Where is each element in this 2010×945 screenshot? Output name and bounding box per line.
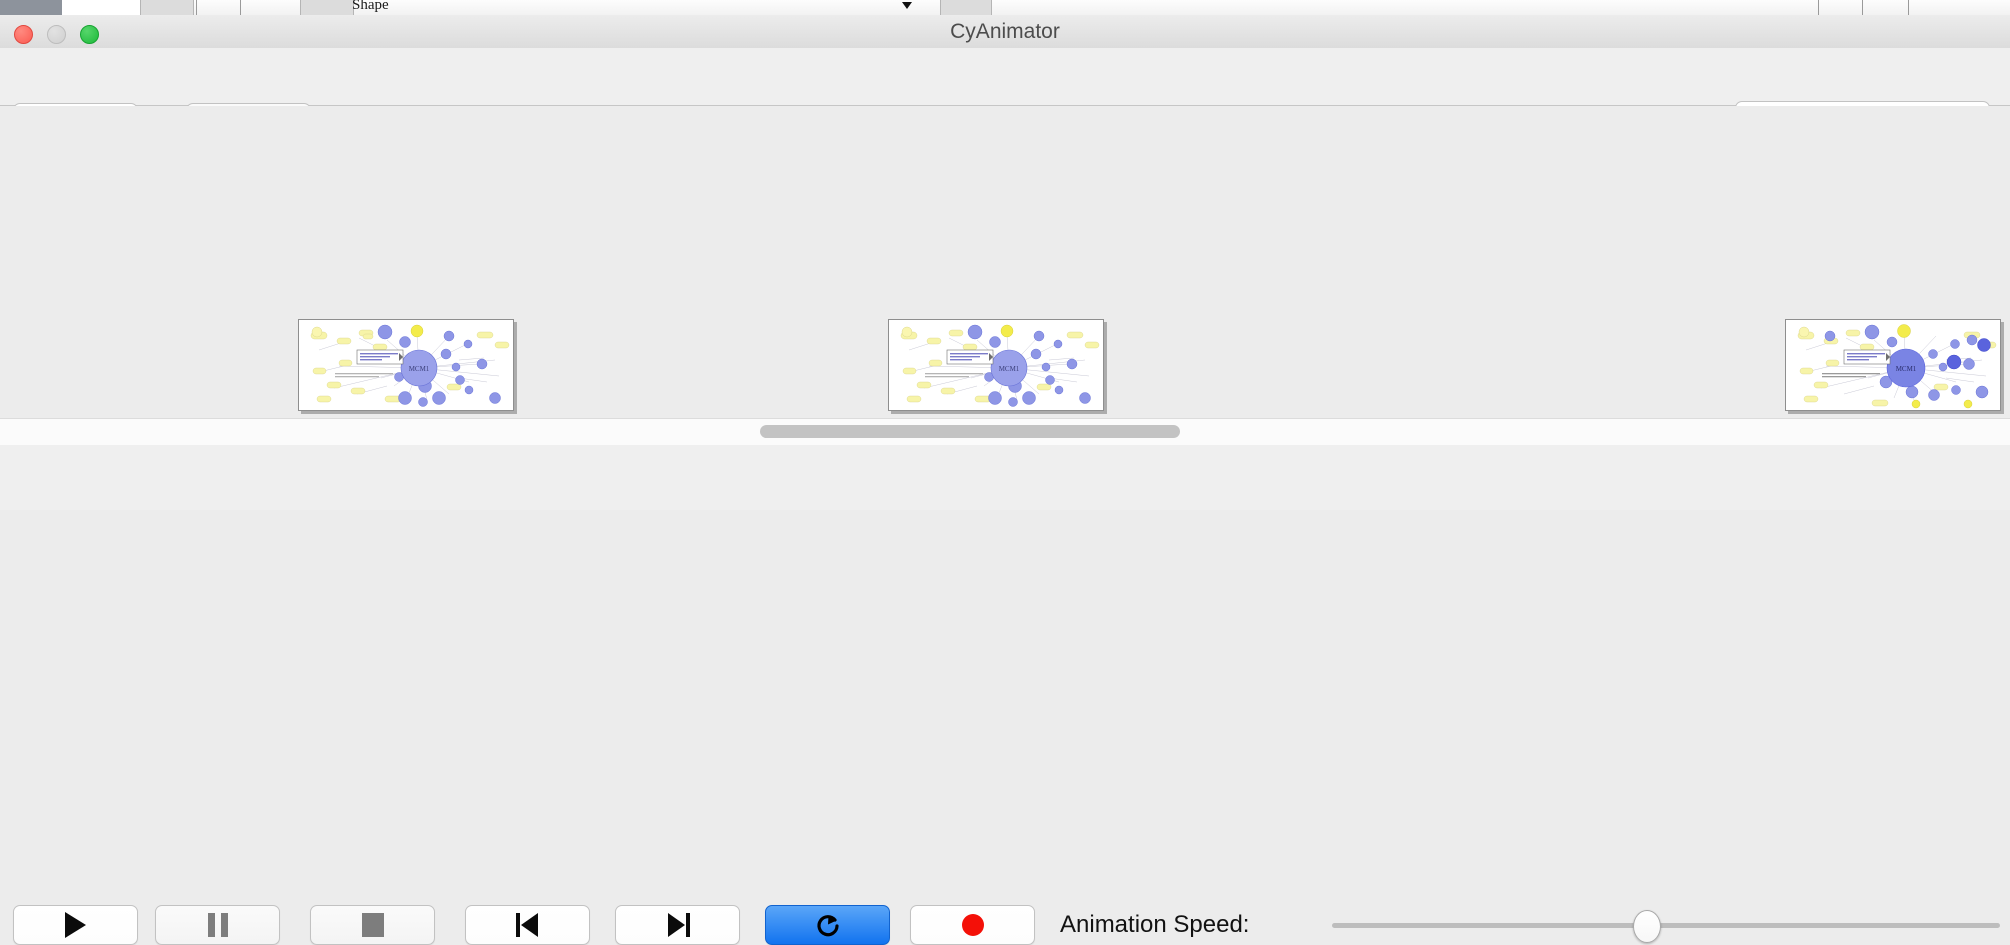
record-button[interactable] [910, 905, 1035, 945]
window-title: CyAnimator [0, 15, 2010, 48]
background-window-label: Shape [352, 0, 389, 14]
loop-icon [814, 911, 842, 939]
animation-speed-slider[interactable] [1332, 923, 2000, 928]
pause-icon [208, 913, 228, 937]
skip-back-icon [516, 913, 540, 937]
loop-button[interactable] [765, 905, 890, 945]
hub-node-label: MCM1 [409, 365, 430, 373]
animation-speed-label: Animation Speed: [1060, 905, 1249, 945]
background-window-segment [140, 0, 194, 15]
stop-button[interactable] [310, 905, 435, 945]
toolbar: Clear All Frames [0, 48, 2010, 106]
background-window-tick [196, 0, 197, 15]
background-window-arrow-icon [902, 2, 912, 9]
background-window-tick [240, 0, 241, 15]
skip-back-button[interactable] [465, 905, 590, 945]
network-graph-image: MCM1 [299, 320, 513, 410]
stop-icon [362, 913, 384, 937]
skip-forward-button[interactable] [615, 905, 740, 945]
play-icon [65, 912, 86, 938]
frame-thumbnail[interactable]: MCM1 [298, 319, 514, 411]
skip-forward-icon [666, 913, 690, 937]
frame-thumbnail[interactable]: MCM1 [888, 319, 1104, 411]
cyanimator-window: Shape CyAnimator Clear All Frames [0, 0, 2010, 510]
background-window-dark-block [0, 0, 62, 15]
record-icon [962, 914, 984, 936]
animation-speed-slider-knob[interactable] [1633, 910, 1661, 943]
frame-thumbnail[interactable]: MCM1 [1785, 319, 2001, 411]
background-window-tick [1862, 0, 1863, 15]
pause-button[interactable] [155, 905, 280, 945]
background-window-tick [1908, 0, 1909, 15]
hub-node-label: MCM1 [1896, 365, 1917, 373]
background-window-tick [1818, 0, 1819, 15]
playback-control-bar: Animation Speed: [0, 445, 2010, 510]
hub-node-label: MCM1 [999, 365, 1020, 373]
timeline-panel[interactable]: MCM1 [0, 106, 2010, 416]
network-graph-image: MCM1 [889, 320, 1103, 410]
background-window-segment [62, 0, 141, 15]
scrollbar-thumb[interactable] [760, 425, 1180, 438]
background-window-segment [300, 0, 354, 15]
timeline-scrollbar[interactable] [0, 418, 2010, 446]
network-graph-image: MCM1 [1786, 320, 2000, 410]
background-window-segment [940, 0, 992, 15]
play-button[interactable] [13, 905, 138, 945]
title-bar[interactable]: CyAnimator [0, 15, 2010, 49]
background-window-strip: Shape [0, 0, 2010, 16]
